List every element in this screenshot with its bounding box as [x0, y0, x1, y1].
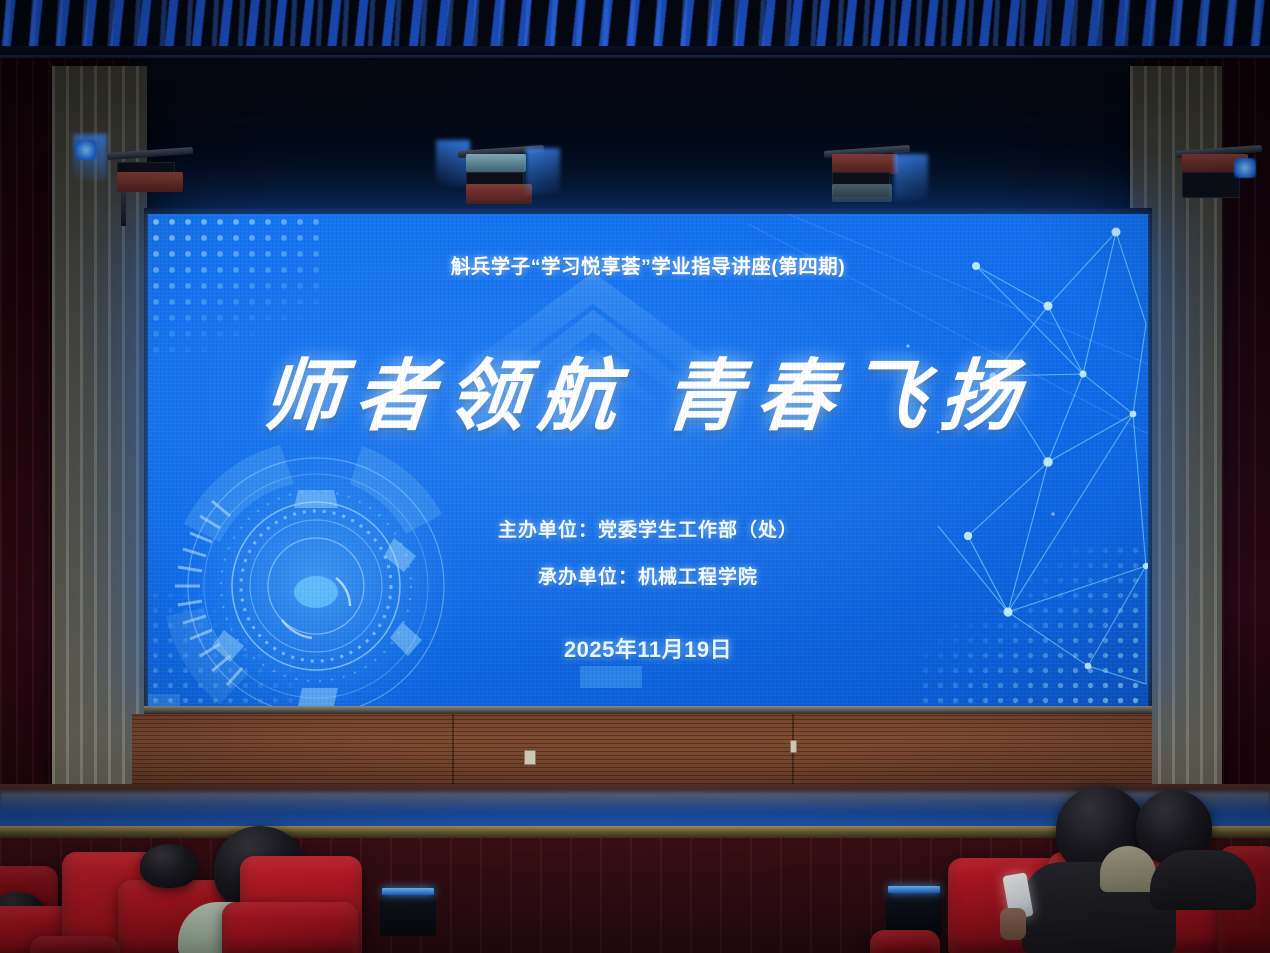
- stage-monitor-right-led: [888, 886, 940, 893]
- stage-monitor-left-led: [382, 888, 434, 895]
- stage-wood-wall: [132, 714, 1152, 792]
- wood-wall-seam-2: [792, 714, 794, 792]
- accent-block: [580, 666, 642, 688]
- stage-light-2-warm-panel: [466, 184, 532, 204]
- seat[interactable]: [870, 930, 940, 953]
- stage-light-4-lens: [1234, 158, 1256, 178]
- wood-wall-seam-1: [452, 714, 454, 792]
- wall-outlet-center: [524, 750, 536, 765]
- stage-light-1-lens: [75, 140, 97, 160]
- stage-light-3-spill: [894, 154, 928, 200]
- auditorium-scene: 斛兵学子“学习悦享荟”学业指导讲座(第四期) 师者领航 青春飞扬 主办单位：党委…: [0, 0, 1270, 953]
- dark-back-wall: [0, 58, 1270, 218]
- seat[interactable]: [30, 936, 120, 953]
- stage-monitor-left: [380, 886, 436, 936]
- audience-jacket-dark-right: [1150, 850, 1256, 910]
- main-slide-title: 师者领航 青春飞扬: [148, 334, 1148, 446]
- stage-light-3-warm-panel: [832, 154, 898, 174]
- stage-monitor-right: [886, 884, 942, 936]
- audience-head: [140, 844, 198, 888]
- stage-light-2-spill: [436, 140, 470, 186]
- led-presentation-screen[interactable]: 斛兵学子“学习悦享荟”学业指导讲座(第四期) 师者领航 青春飞扬 主办单位：党委…: [148, 214, 1148, 708]
- stage-light-4-body: [1182, 172, 1240, 198]
- stage-light-1-warm-panel: [117, 172, 183, 192]
- stage-light-2-cool-panel: [466, 154, 526, 172]
- lecture-series-subtitle: 斛兵学子“学习悦享荟”学业指导讲座(第四期): [148, 250, 1148, 279]
- stage-light-3-cool-panel: [832, 184, 892, 202]
- ceiling-slat-highlight: [0, 0, 1270, 50]
- host-line: 承办单位：机械工程学院: [148, 562, 1148, 589]
- stage-light-2-spill-right: [526, 148, 560, 194]
- event-date: 2025年11月19日: [148, 632, 1148, 664]
- seat[interactable]: [222, 902, 358, 953]
- stage-light-1-yoke: [121, 192, 126, 226]
- organizer-line: 主办单位：党委学生工作部（处）: [148, 515, 1148, 542]
- wall-outlet-right: [790, 740, 797, 753]
- audience-hand: [1000, 908, 1026, 940]
